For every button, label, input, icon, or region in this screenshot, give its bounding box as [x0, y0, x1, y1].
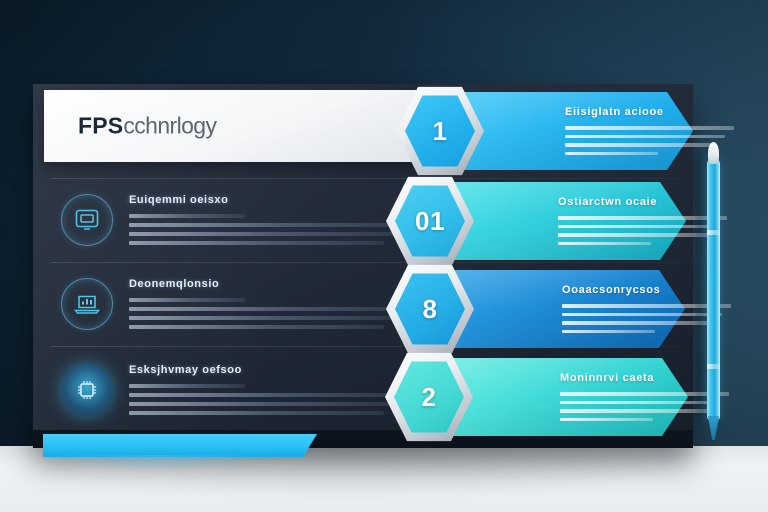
list-item-heading: Deonemqlonsio: [129, 278, 219, 290]
stylus-body: [707, 158, 720, 420]
stylus-shadow: [697, 160, 707, 418]
step-banner-content: Ostiarctwn ocaie: [448, 182, 686, 260]
step-hexagon[interactable]: 8: [386, 263, 474, 355]
step-hexagon[interactable]: 2: [385, 351, 473, 443]
list-item[interactable]: Deonemqlonsio: [33, 270, 433, 354]
circuit-core-icon: [61, 364, 113, 416]
step-hexagon[interactable]: 1: [396, 85, 484, 177]
stylus-band: [707, 364, 720, 369]
list-item[interactable]: Euiqemmi oeisxo: [33, 186, 433, 270]
step-number: 1: [433, 116, 448, 147]
stylus-band: [707, 230, 720, 235]
page-title: FPScchnrlogy: [78, 113, 216, 140]
list-item-heading: Euiqemmi oeisxo: [129, 194, 228, 206]
step-banner-content: Moninnrvi caeta: [450, 358, 688, 436]
list-item[interactable]: Esksjhvmay oefsoo: [33, 356, 433, 440]
list-item-heading: Esksjhvmay oefsoo: [129, 364, 242, 376]
row-divider: [51, 178, 679, 179]
stylus-cap: [708, 142, 719, 164]
list-item-body: [129, 384, 419, 420]
blue-accent-bar-glow: [43, 455, 323, 475]
stylus-pen[interactable]: [703, 142, 725, 440]
title-strong: FPS: [78, 113, 123, 139]
circuit-core-glyph: [74, 377, 100, 403]
list-item-body: [129, 298, 419, 334]
step-heading: Moninnrvi caeta: [560, 372, 654, 384]
list-item-body: [129, 214, 419, 250]
step-hexagon[interactable]: 01: [386, 175, 474, 267]
title-light: cchnrlogy: [123, 113, 216, 139]
step-heading: Ooaacsonrycsos: [562, 284, 660, 296]
step-heading: Ostiarctwn ocaie: [558, 196, 657, 208]
step-number: 01: [415, 206, 445, 237]
step-banner-content: Eiisiglatn aciooe: [455, 92, 693, 170]
title-panel: FPScchnrlogy: [44, 90, 444, 162]
laptop-chart-icon: [61, 278, 113, 330]
stylus-nib: [708, 416, 719, 440]
monitor-chip-icon: [61, 194, 113, 246]
monitor-chip-glyph: [74, 208, 100, 232]
step-heading: Eiisiglatn aciooe: [565, 106, 664, 118]
step-number: 2: [422, 382, 437, 413]
blue-accent-bar: [43, 434, 317, 457]
laptop-chart-glyph: [73, 292, 101, 316]
step-number: 8: [423, 294, 438, 325]
infographic-stage: FPScchnrlogy Euiqemmi oeisxo Deone: [0, 0, 768, 512]
step-banner-content: Ooaacsonrycsos: [452, 270, 685, 348]
